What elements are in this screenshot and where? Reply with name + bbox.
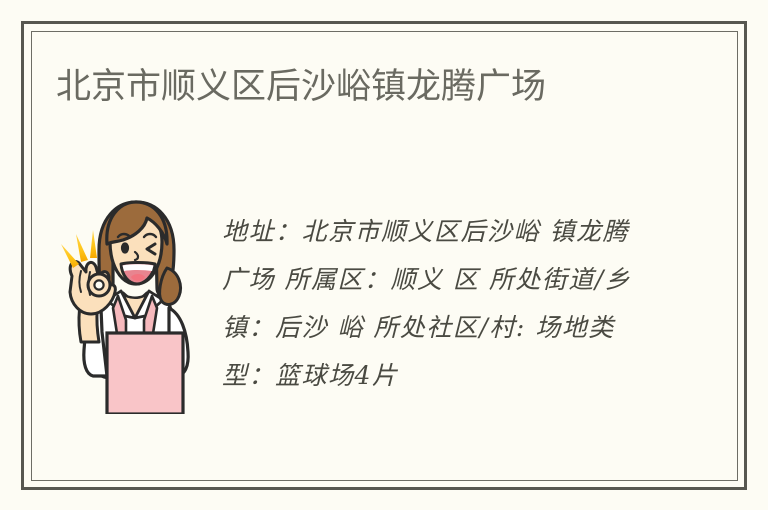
venue-info-card: 北京市顺义区后沙峪镇龙腾广场 bbox=[0, 0, 768, 510]
venue-details-text: 地址：北京市顺义区后沙峪 镇龙腾广场 所属区：顺义 区 所处街道/乡镇：后沙 峪… bbox=[222, 208, 632, 400]
cheerful-woman-ok-gesture-icon bbox=[55, 192, 215, 414]
ponytail bbox=[160, 268, 181, 305]
eye-left-open bbox=[121, 242, 129, 253]
detail-line-4: 峪 所处社区/村: bbox=[337, 313, 525, 342]
cheerful-woman-illustration bbox=[55, 192, 215, 414]
page-title: 北京市顺义区后沙峪镇龙腾广场 bbox=[56, 64, 546, 110]
detail-line-1: 地址：北京市顺义区后沙峪 bbox=[222, 217, 540, 246]
